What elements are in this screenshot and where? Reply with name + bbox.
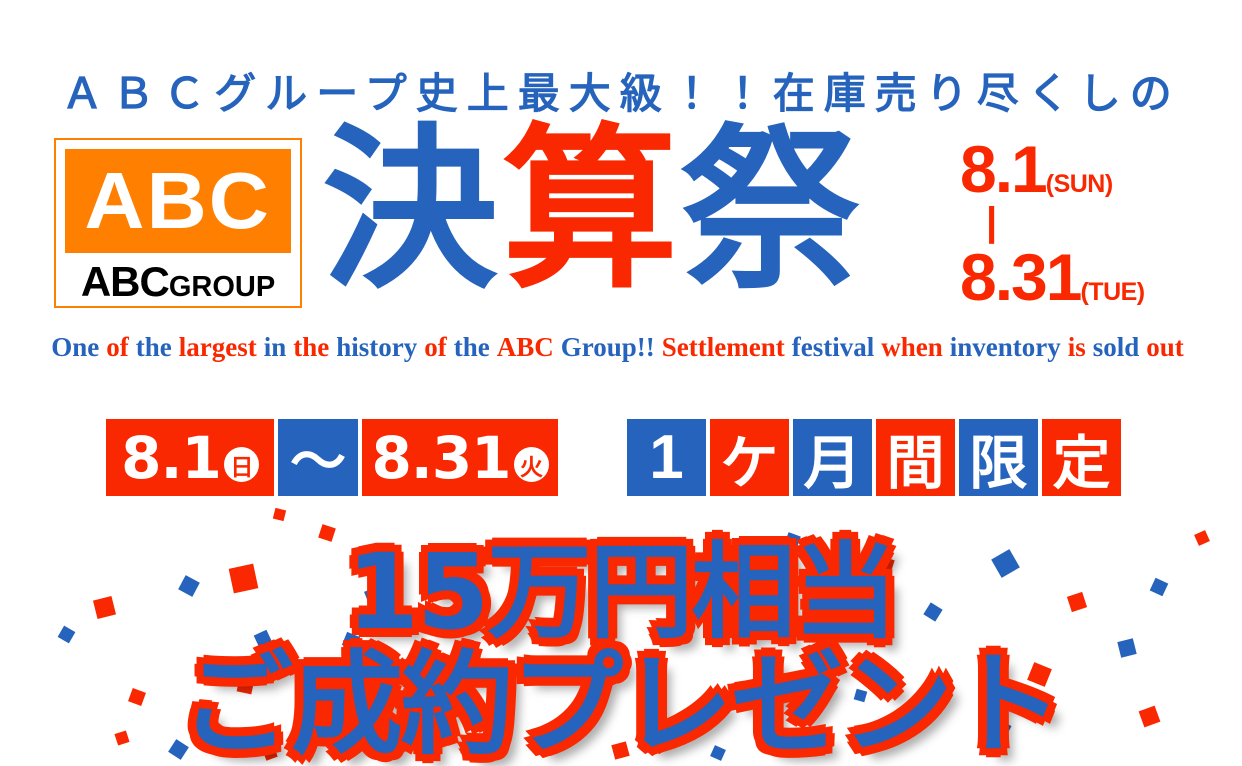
english-tagline-word-6: history bbox=[336, 332, 417, 362]
duration-badge-5: 定 bbox=[1042, 419, 1121, 496]
main-title-char-3: 祭 bbox=[682, 108, 862, 313]
gift-headline-line-2: ご成約プレゼント bbox=[0, 646, 1242, 764]
logo-subtext-group: GROUP bbox=[169, 271, 275, 303]
badge-end-date-text: 8.31 bbox=[371, 424, 510, 492]
main-title-char-2: 算 bbox=[502, 108, 682, 313]
badge-start-date-text: 8.1 bbox=[121, 424, 221, 492]
date-range-block: 8.1(SUN) | 8.31(TUE) bbox=[960, 136, 1210, 310]
english-tagline-word-5: the bbox=[293, 332, 329, 362]
gift-headline-line-1: 15万円相当 bbox=[0, 540, 1242, 644]
date-range-end-row: 8.31(TUE) bbox=[960, 244, 1210, 310]
main-title-char-1: 決 bbox=[322, 108, 502, 313]
gift-headline: 15万円相当 ご成約プレゼント bbox=[0, 540, 1242, 764]
logo-orange-box: ABC bbox=[65, 149, 291, 253]
badge-tilde: 〜 bbox=[278, 419, 358, 496]
date-badge-group: 8.1日 〜 8.31火 bbox=[106, 419, 558, 496]
date-range-start-dow: (SUN) bbox=[1046, 170, 1113, 198]
english-tagline-word-14: inventory bbox=[950, 332, 1061, 362]
promotional-banner: ＡＢＣグループ史上最大級！！在庫売り尽くしの ABC ABCGROUP 決算祭 … bbox=[0, 0, 1242, 766]
duration-badge-group: 1ケ月間限定 bbox=[627, 419, 1121, 496]
date-range-start-row: 8.1(SUN) bbox=[960, 136, 1210, 202]
english-tagline-word-16: sold bbox=[1093, 332, 1140, 362]
english-tagline-word-9: ABC bbox=[497, 332, 554, 362]
english-tagline-word-4: in bbox=[264, 332, 287, 362]
english-tagline-word-10: Group!! bbox=[561, 332, 655, 362]
english-tagline-word-1: of bbox=[106, 332, 129, 362]
duration-badge-1: ケ bbox=[710, 419, 789, 496]
logo-abc-text: ABC bbox=[85, 161, 272, 241]
badge-start-date: 8.1日 bbox=[106, 419, 274, 496]
date-range-separator: | bbox=[960, 202, 1210, 242]
english-tagline-word-2: the bbox=[136, 332, 172, 362]
duration-badge-2: 月 bbox=[793, 419, 872, 496]
english-tagline-word-15: is bbox=[1068, 332, 1086, 362]
logo-subtext: ABCGROUP bbox=[56, 258, 300, 306]
duration-badge-4: 限 bbox=[959, 419, 1038, 496]
date-range-end-dow: (TUE) bbox=[1080, 278, 1144, 306]
english-tagline: OneofthelargestinthehistoryoftheABCGroup… bbox=[0, 330, 1242, 364]
english-tagline-word-7: of bbox=[424, 332, 447, 362]
confetti-piece bbox=[273, 508, 286, 521]
badge-start-dow: 日 bbox=[224, 447, 259, 482]
english-tagline-word-8: the bbox=[454, 332, 490, 362]
english-tagline-word-3: largest bbox=[179, 332, 257, 362]
english-tagline-word-12: festival bbox=[792, 332, 874, 362]
main-title: 決算祭 bbox=[322, 116, 862, 306]
duration-badge-3: 間 bbox=[876, 419, 955, 496]
date-range-end-number: 8.31 bbox=[960, 240, 1080, 314]
duration-badge-0: 1 bbox=[627, 419, 706, 496]
english-tagline-word-0: One bbox=[51, 332, 99, 362]
badge-end-date: 8.31火 bbox=[362, 419, 558, 496]
english-tagline-word-11: Settlement bbox=[662, 332, 785, 362]
english-tagline-word-17: out bbox=[1146, 332, 1184, 362]
english-tagline-word-13: when bbox=[881, 332, 943, 362]
logo-subtext-abc: ABC bbox=[81, 258, 169, 305]
date-range-start-number: 8.1 bbox=[960, 132, 1046, 206]
abc-group-logo: ABC ABCGROUP bbox=[54, 138, 302, 308]
badge-end-dow: 火 bbox=[514, 447, 549, 482]
